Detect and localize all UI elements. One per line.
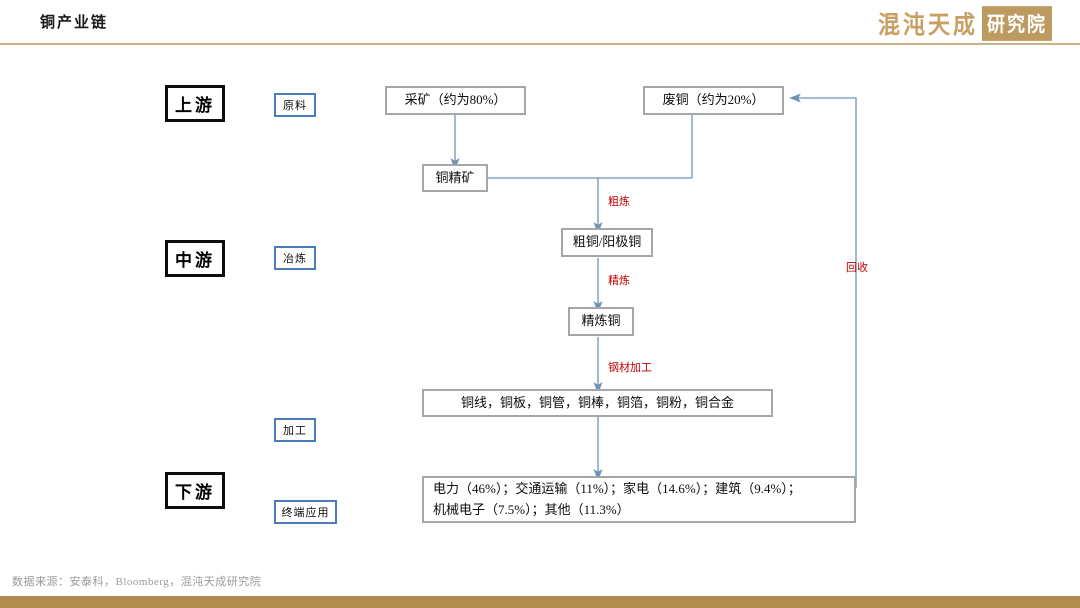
end-use-line-2: 机械电子（7.5%）；其他（11.3%） [433,500,801,520]
edge-label-fabrication: 钢材加工 [608,359,652,375]
brand-seal-badge: 研究院 [982,6,1052,41]
tag-box-processing: 加工 [274,418,316,442]
page-header: 铜产业链 混沌天成 研究院 [0,0,1080,44]
page-title: 铜产业链 [40,11,108,32]
edge-label-recycling: 回收 [846,259,868,275]
tag-box-end-use: 终端应用 [274,500,337,524]
brand-wordmark: 混沌天成 [878,5,978,41]
copper-value-chain-diagram: 上游 中游 下游 原料 冶炼 加工 终端应用 采矿（约为80%） 废铜（约为20… [0,44,1080,552]
edge-label-refining: 精炼 [608,272,630,288]
node-end-use-applications: 电力（46%）；交通运输（11%）；家电（14.6%）；建筑（9.4%）； 机械… [422,476,856,523]
footer-gold-bar [0,596,1080,608]
tag-box-smelting: 冶炼 [274,246,316,270]
brand-logo: 混沌天成 研究院 [878,7,1052,39]
node-mining: 采矿（约为80%） [385,86,526,115]
node-copper-concentrate: 铜精矿 [422,164,488,192]
node-refined-copper: 精炼铜 [568,307,634,336]
node-scrap-copper: 废铜（约为20%） [643,86,784,115]
stage-box-downstream: 下游 [165,472,225,509]
source-note: 数据来源：安泰科，Bloomberg，混沌天成研究院 [12,573,261,589]
tag-box-raw-material: 原料 [274,93,316,117]
node-blister-anode-copper: 粗铜/阳极铜 [561,228,653,257]
edge-label-smelting: 粗炼 [608,193,630,209]
end-use-line-1: 电力（46%）；交通运输（11%）；家电（14.6%）；建筑（9.4%）； [433,479,801,499]
node-copper-products: 铜线，铜板，铜管，铜棒，铜箔，铜粉，铜合金 [422,389,773,417]
stage-box-midstream: 中游 [165,240,225,277]
stage-box-upstream: 上游 [165,85,225,122]
